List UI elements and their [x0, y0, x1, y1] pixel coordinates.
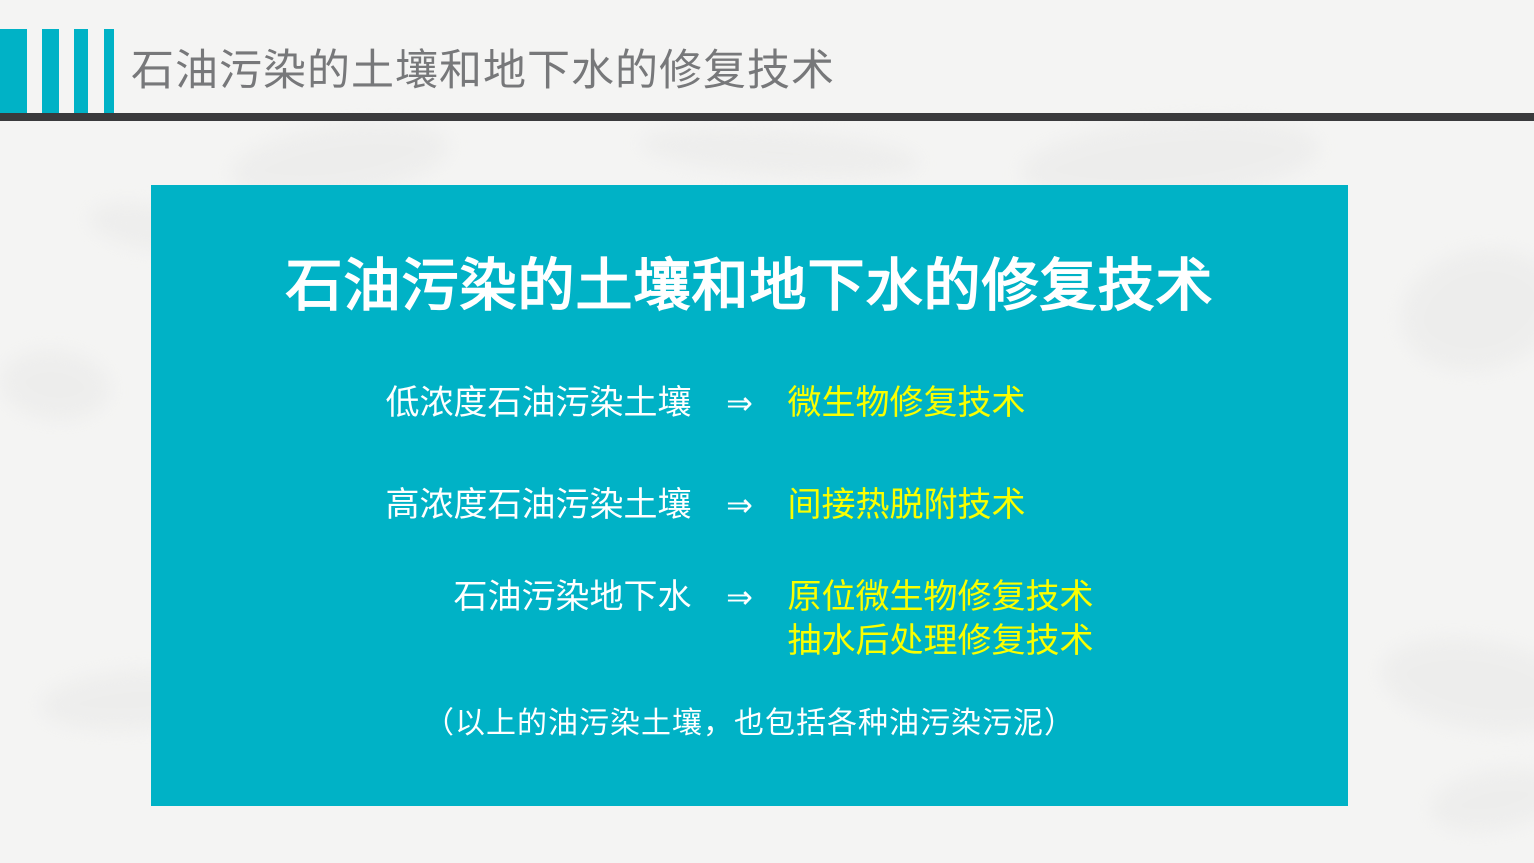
watermark-blob: [1388, 232, 1534, 387]
panel-heading: 石油污染的土壤和地下水的修复技术: [151, 257, 1348, 317]
mapping-result-line: 微生物修复技术: [788, 381, 1188, 425]
page-title: 石油污染的土壤和地下水的修复技术: [131, 29, 835, 113]
header-bar-2: [42, 29, 59, 113]
mapping-row-term: 低浓度石油污染土壤: [312, 381, 692, 425]
header-bar-4: [104, 29, 114, 113]
double-arrow-right-icon: ⇒: [692, 575, 788, 619]
mapping-row-result: 原位微生物修复技术 抽水后处理修复技术: [788, 575, 1188, 663]
mapping-row-term: 石油污染地下水: [312, 575, 692, 619]
mapping-rows: 低浓度石油污染土壤 ⇒ 微生物修复技术 高浓度石油污染土壤 ⇒ 间接热脱附技术 …: [151, 381, 1348, 663]
double-arrow-right-icon: ⇒: [692, 483, 788, 527]
mapping-result-line: 抽水后处理修复技术: [788, 619, 1188, 663]
header-divider: [0, 113, 1534, 121]
header-bar-3: [74, 29, 88, 113]
mapping-row-result: 间接热脱附技术: [788, 483, 1188, 527]
watermark-blob: [1426, 759, 1534, 841]
mapping-row-result: 微生物修复技术: [788, 381, 1188, 425]
mapping-result-line: 原位微生物修复技术: [788, 575, 1188, 619]
mapping-row: 高浓度石油污染土壤 ⇒ 间接热脱附技术: [151, 483, 1348, 527]
double-arrow-right-icon: ⇒: [692, 381, 788, 425]
content-panel: 石油污染的土壤和地下水的修复技术 低浓度石油污染土壤 ⇒ 微生物修复技术 高浓度…: [151, 185, 1348, 806]
header-bar-1: [0, 29, 27, 113]
watermark-blob: [639, 120, 922, 185]
four-vertical-bars-icon: [0, 29, 114, 113]
panel-note: （以上的油污染土壤，也包括各种油污染污泥）: [151, 706, 1348, 742]
mapping-row: 低浓度石油污染土壤 ⇒ 微生物修复技术: [151, 381, 1348, 425]
watermark-blob: [0, 344, 113, 425]
mapping-result-line: 间接热脱附技术: [788, 483, 1188, 527]
mapping-row-term: 高浓度石油污染土壤: [312, 483, 692, 527]
mapping-row: 石油污染地下水 ⇒ 原位微生物修复技术 抽水后处理修复技术: [151, 575, 1348, 663]
slide-header: 石油污染的土壤和地下水的修复技术: [0, 0, 1534, 121]
watermark-blob: [1374, 625, 1534, 745]
